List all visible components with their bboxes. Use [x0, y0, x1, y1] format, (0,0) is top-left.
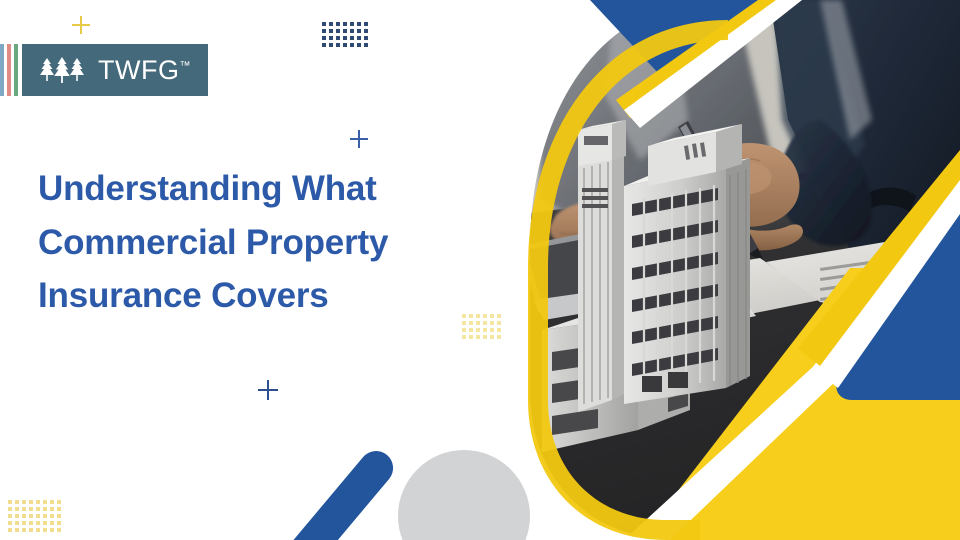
dot [50, 521, 54, 525]
dot [357, 22, 361, 26]
slide-canvas: TWFG™ Understanding What Commercial Prop… [0, 0, 960, 540]
logo-wordmark: TWFG™ [98, 57, 190, 84]
dot [22, 514, 26, 518]
dot [8, 528, 12, 532]
dot [50, 500, 54, 504]
dot [350, 43, 354, 47]
dot [462, 314, 466, 318]
dot [57, 521, 61, 525]
dot [8, 500, 12, 504]
dot [364, 29, 368, 33]
dot [336, 36, 340, 40]
dot [50, 507, 54, 511]
dot [8, 507, 12, 511]
dot [15, 521, 19, 525]
dot [15, 528, 19, 532]
logo-stripe-green [14, 44, 18, 96]
dot [50, 514, 54, 518]
dot [29, 514, 33, 518]
dot [483, 335, 487, 339]
dot [469, 321, 473, 325]
blue-diagonal-bar-shape [278, 444, 400, 540]
dot [43, 521, 47, 525]
dot [343, 36, 347, 40]
dot [462, 335, 466, 339]
dot [350, 22, 354, 26]
dot [22, 507, 26, 511]
dot [36, 528, 40, 532]
dot [350, 36, 354, 40]
page-title-line-3: Insurance Covers [38, 269, 508, 323]
dot [43, 507, 47, 511]
dot [497, 314, 501, 318]
dot [8, 521, 12, 525]
dot [36, 500, 40, 504]
evergreen-trees-icon [38, 56, 88, 84]
logo-box: TWFG™ [22, 44, 208, 96]
dot [50, 528, 54, 532]
dot [29, 507, 33, 511]
dot [22, 500, 26, 504]
hero-image-composition: TRACT [520, 0, 960, 540]
dot [336, 29, 340, 33]
dot [476, 335, 480, 339]
dot [476, 321, 480, 325]
dot [8, 514, 12, 518]
dot [329, 43, 333, 47]
dot [364, 36, 368, 40]
dot [469, 328, 473, 332]
dot [490, 314, 494, 318]
dot [357, 43, 361, 47]
dot [57, 507, 61, 511]
dot [483, 321, 487, 325]
dot [15, 507, 19, 511]
dot [29, 521, 33, 525]
dot [343, 22, 347, 26]
plus-mark-blue-upper [350, 130, 368, 148]
dot [36, 521, 40, 525]
dot [490, 335, 494, 339]
dot-grid-yellow-mid [462, 314, 504, 342]
dot [15, 514, 19, 518]
dot [336, 22, 340, 26]
dot [322, 22, 326, 26]
dot [29, 528, 33, 532]
dot [29, 500, 33, 504]
plus-mark-yellow-top [72, 16, 90, 34]
dot-grid-top-left [322, 22, 371, 50]
dot [57, 500, 61, 504]
trademark-symbol: ™ [179, 60, 190, 72]
hero-artwork: TRACT [520, 0, 960, 540]
dot [462, 321, 466, 325]
dot [57, 514, 61, 518]
dot [15, 500, 19, 504]
dot [469, 335, 473, 339]
gray-circle-shape [398, 450, 530, 540]
dot [57, 528, 61, 532]
dot [43, 528, 47, 532]
page-title: Understanding What Commercial Property I… [38, 162, 508, 323]
dot [497, 321, 501, 325]
dot [490, 328, 494, 332]
dot [322, 29, 326, 33]
dot [364, 22, 368, 26]
dot [329, 29, 333, 33]
dot [336, 43, 340, 47]
brand-logo[interactable]: TWFG™ [0, 44, 208, 96]
plus-mark-blue-lower [258, 380, 278, 400]
dot [36, 514, 40, 518]
dot [357, 29, 361, 33]
dot [483, 328, 487, 332]
dot [497, 328, 501, 332]
dot [329, 36, 333, 40]
logo-wordmark-text: TWFG [98, 55, 179, 85]
dot-grid-bottom-left [8, 500, 64, 535]
dot [462, 328, 466, 332]
dot [329, 22, 333, 26]
dot [483, 314, 487, 318]
dot [43, 514, 47, 518]
dot [343, 29, 347, 33]
page-title-line-1: Understanding What [38, 162, 508, 216]
dot [476, 314, 480, 318]
dot [322, 36, 326, 40]
dot [343, 43, 347, 47]
dot [364, 43, 368, 47]
dot [476, 328, 480, 332]
dot [22, 528, 26, 532]
page-title-line-2: Commercial Property [38, 216, 508, 270]
dot [22, 521, 26, 525]
dot [469, 314, 473, 318]
dot [43, 500, 47, 504]
dot [357, 36, 361, 40]
dot [490, 321, 494, 325]
dot [350, 29, 354, 33]
dot [497, 335, 501, 339]
dot [322, 43, 326, 47]
dot [36, 507, 40, 511]
